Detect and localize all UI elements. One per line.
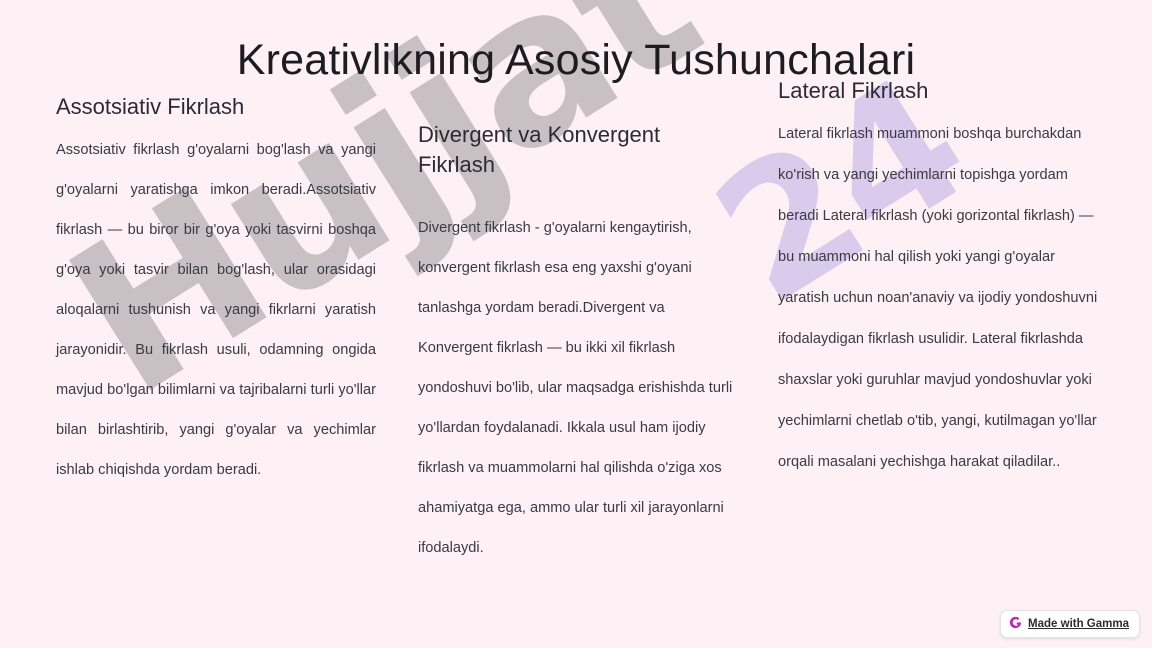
column-heading: Divergent va Konvergent Fikrlash [418,120,738,180]
column-heading: Lateral Fikrlash [778,76,1108,106]
column-body-text: Divergent fikrlash - g'oyalarni kengayti… [418,208,738,568]
made-with-gamma-badge[interactable]: Made with Gamma [1000,610,1140,638]
made-with-gamma-label: Made with Gamma [1028,618,1129,630]
content-column-lateral-fikrlash: Lateral Fikrlash Lateral fikrlash muammo… [778,76,1108,483]
column-heading: Assotsiativ Fikrlash [56,92,376,122]
content-column-divergent-va-konvergent-fikrlash: Divergent va Konvergent Fikrlash Diverge… [418,120,738,568]
content-column-assotsiativ-fikrlash: Assotsiativ Fikrlash Assotsiativ fikrlas… [56,92,376,490]
gamma-logo-icon [1009,616,1022,632]
slide-canvas: Kreativlikning Asosiy Tushunchalari Asso… [0,0,1152,648]
column-body-text: Lateral fikrlash muammoni boshqa burchak… [778,114,1108,483]
column-body-text: Assotsiativ fikrlash g'oyalarni bog'lash… [56,130,376,490]
